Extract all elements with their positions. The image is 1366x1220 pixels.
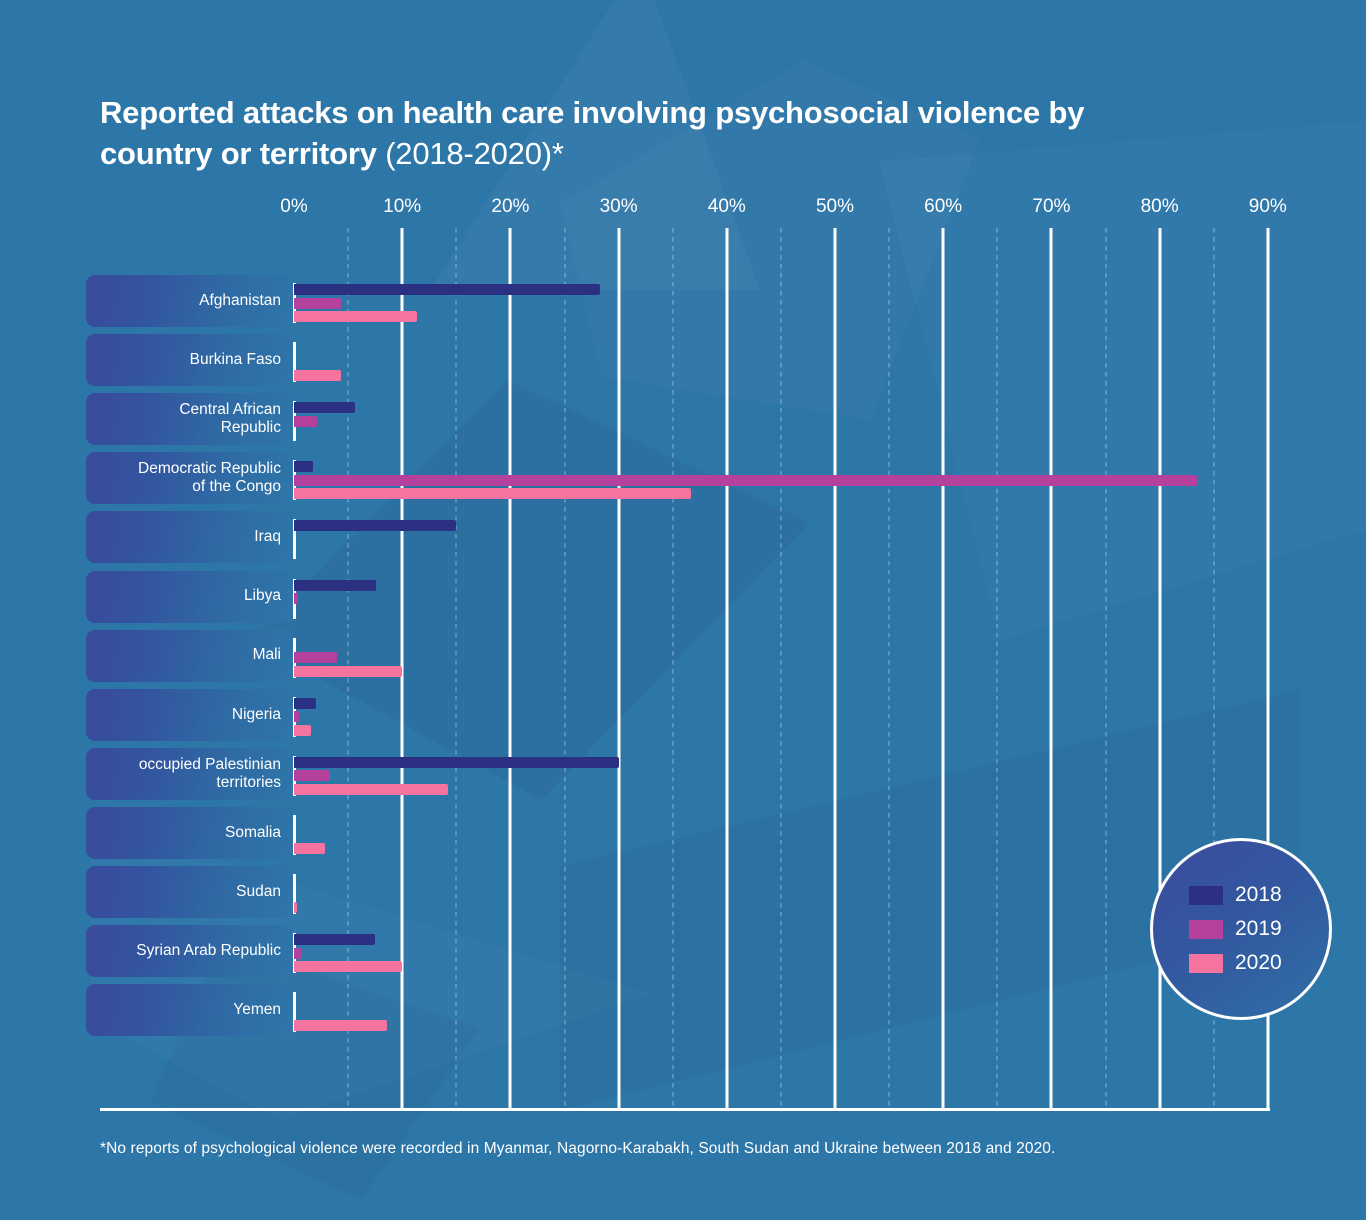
bar-2018[interactable]	[294, 698, 316, 709]
country-pill[interactable]: Afghanistan	[86, 275, 294, 327]
bar-row: Burkina Faso	[0, 334, 1366, 386]
bar-2018[interactable]	[294, 461, 313, 472]
country-pill[interactable]: Central African Republic	[86, 393, 294, 445]
chart-legend: 201820192020	[1150, 838, 1332, 1020]
bar-row: Central African Republic	[0, 393, 1366, 445]
country-pill[interactable]: Yemen	[86, 984, 294, 1036]
country-label: Sudan	[236, 883, 294, 901]
bar-row: Yemen	[0, 984, 1366, 1036]
country-label: Afghanistan	[199, 292, 294, 310]
bar-2018[interactable]	[294, 757, 619, 768]
bar-2020[interactable]	[294, 370, 341, 381]
country-pill[interactable]: Burkina Faso	[86, 334, 294, 386]
country-label: Yemen	[233, 1001, 294, 1019]
legend-swatch-2018	[1189, 886, 1223, 905]
legend-item-2020[interactable]: 2020	[1189, 951, 1329, 975]
country-pill[interactable]: Nigeria	[86, 689, 294, 741]
bar-row: Democratic Republic of the Congo	[0, 452, 1366, 504]
bar-2020[interactable]	[294, 784, 448, 795]
bar-row: Mali	[0, 630, 1366, 682]
bar-2020[interactable]	[294, 311, 417, 322]
country-pill[interactable]: Mali	[86, 630, 294, 682]
chart-canvas: Reported attacks on health care involvin…	[0, 0, 1366, 1220]
bar-2020[interactable]	[294, 725, 311, 736]
bar-2019[interactable]	[294, 416, 317, 427]
country-pill[interactable]: Sudan	[86, 866, 294, 918]
country-pill[interactable]: Somalia	[86, 807, 294, 859]
bar-2019[interactable]	[294, 593, 298, 604]
legend-swatch-2019	[1189, 920, 1223, 939]
bar-row: Somalia	[0, 807, 1366, 859]
country-label: Syrian Arab Republic	[136, 942, 294, 960]
country-label: Somalia	[225, 824, 294, 842]
country-pill[interactable]: occupied Palestinian territories	[86, 748, 294, 800]
bar-2019[interactable]	[294, 711, 299, 722]
bar-2020[interactable]	[294, 666, 402, 677]
bar-row: Afghanistan	[0, 275, 1366, 327]
bar-row: occupied Palestinian territories	[0, 748, 1366, 800]
bar-2020[interactable]	[294, 902, 297, 913]
bar-2018[interactable]	[294, 580, 376, 591]
bar-2018[interactable]	[294, 934, 375, 945]
x-axis-baseline	[100, 1108, 1270, 1111]
legend-label: 2019	[1235, 917, 1282, 941]
country-label: Burkina Faso	[190, 351, 294, 369]
bar-2019[interactable]	[294, 475, 1197, 486]
country-pill[interactable]: Democratic Republic of the Congo	[86, 452, 294, 504]
bar-row: Iraq	[0, 511, 1366, 563]
bar-2020[interactable]	[294, 488, 691, 499]
country-label: Libya	[244, 587, 294, 605]
bar-row: Nigeria	[0, 689, 1366, 741]
bar-2019[interactable]	[294, 770, 330, 781]
bar-2019[interactable]	[294, 652, 337, 663]
country-label: occupied Palestinian territories	[139, 756, 294, 793]
bar-2019[interactable]	[294, 298, 341, 309]
country-label: Democratic Republic of the Congo	[138, 460, 294, 497]
bar-2019[interactable]	[294, 948, 302, 959]
chart-footnote: *No reports of psychological violence we…	[100, 1140, 1300, 1158]
legend-label: 2020	[1235, 951, 1282, 975]
bar-2018[interactable]	[294, 402, 355, 413]
country-pill[interactable]: Iraq	[86, 511, 294, 563]
bar-2020[interactable]	[294, 1020, 387, 1031]
bar-2018[interactable]	[294, 284, 600, 295]
bar-row: Libya	[0, 571, 1366, 623]
legend-item-2018[interactable]: 2018	[1189, 883, 1329, 907]
bar-2020[interactable]	[294, 961, 402, 972]
legend-item-2019[interactable]: 2019	[1189, 917, 1329, 941]
country-pill[interactable]: Libya	[86, 571, 294, 623]
country-pill[interactable]: Syrian Arab Republic	[86, 925, 294, 977]
legend-label: 2018	[1235, 883, 1282, 907]
country-label: Nigeria	[232, 706, 294, 724]
country-label: Mali	[253, 646, 294, 664]
country-label: Iraq	[254, 528, 294, 546]
country-label: Central African Republic	[179, 401, 294, 438]
bar-2018[interactable]	[294, 520, 456, 531]
legend-swatch-2020	[1189, 954, 1223, 973]
bar-2020[interactable]	[294, 843, 325, 854]
